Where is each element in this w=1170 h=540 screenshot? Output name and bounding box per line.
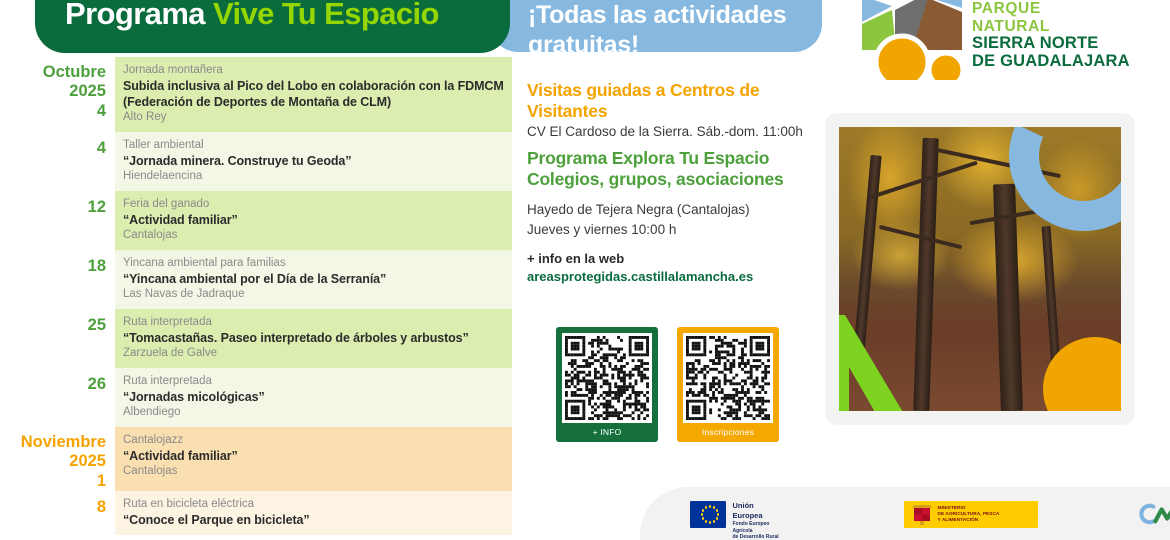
schedule-day: 4 <box>0 138 106 158</box>
schedule-row: Octubre20254Jornada montañeraSubida incl… <box>0 57 512 132</box>
activity-place: Zarzuela de Galve <box>123 346 504 361</box>
schedule-detail-cell: Yincana ambiental para familias“Yincana … <box>115 250 512 309</box>
footer-logos-panel: Unión Europea Fondo Europeo Agrícola de … <box>640 487 1170 540</box>
schedule-row: 18Yincana ambiental para familias“Yincan… <box>0 250 512 309</box>
park-logo: PARQUE NATURAL SIERRA NORTE DE GUADALAJA… <box>862 0 1162 86</box>
banner-program-title: Programa Vive Tu Espacio <box>35 0 510 53</box>
schedule-year: 2025 <box>0 82 106 101</box>
activity-kind: Yincana ambiental para familias <box>123 256 504 271</box>
eu-line-3: de Desarrollo Rural <box>732 534 785 540</box>
schedule-detail-cell: Feria del ganado“Actividad familiar”Cant… <box>115 191 512 250</box>
logo-line-2: NATURAL <box>972 18 1130 36</box>
schedule-month: Octubre <box>0 63 106 82</box>
website-link[interactable]: areasprotegidas.castillalamancha.es <box>527 268 817 286</box>
activity-title: Subida inclusiva al Pico del Lobo en col… <box>123 78 504 110</box>
activity-schedule: Octubre20254Jornada montañeraSubida incl… <box>0 57 512 535</box>
schedule-row: 4Taller ambiental“Jornada minera. Constr… <box>0 132 512 191</box>
qr-card-inscripciones[interactable]: Inscripciones <box>677 327 779 442</box>
schedule-detail-cell: Ruta interpretada“Tomacastañas. Paseo in… <box>115 309 512 368</box>
castilla-la-mancha-logo-icon <box>1136 501 1170 527</box>
eu-logo: Unión Europea Fondo Europeo Agrícola de … <box>690 501 786 540</box>
poster-page: ¡Todas las actividades gratuitas! Progra… <box>0 0 1170 540</box>
activity-title: “Jornada minera. Construye tu Geoda” <box>123 153 504 169</box>
schedule-row: 8Ruta en bicicleta eléctrica“Conoce el P… <box>0 491 512 535</box>
schedule-date-cell: 8 <box>0 491 115 535</box>
activity-place: Hiendelaencina <box>123 169 504 184</box>
eu-line-2: Fondo Europeo Agrícola <box>732 521 785 534</box>
schedule-date-cell: Noviembre20251 <box>0 427 115 491</box>
banner-program-title-text: Programa Vive Tu Espacio <box>65 0 495 32</box>
visits-subtext: CV El Cardoso de la Sierra. Sáb.-dom. 11… <box>527 122 817 142</box>
qr-label: Inscripciones <box>677 427 779 442</box>
schedule-detail-cell: Cantalojazz“Actividad familiar”Cantaloja… <box>115 427 512 491</box>
activity-place: Albendiego <box>123 405 504 420</box>
schedule-date-cell: 4 <box>0 132 115 191</box>
info-column: Visitas guiadas a Centros de Visitantes … <box>527 80 817 286</box>
autumn-beech-forest-photo <box>839 127 1121 411</box>
activity-kind: Ruta interpretada <box>123 374 504 389</box>
schedule-date-cell: Octubre20254 <box>0 57 115 132</box>
schedule-row: 25Ruta interpretada“Tomacastañas. Paseo … <box>0 309 512 368</box>
activity-kind: Ruta en bicicleta eléctrica <box>123 497 504 512</box>
explora-schedule: Jueves y viernes 10:00 h <box>527 220 817 240</box>
activity-place: Cantalojas <box>123 228 504 243</box>
visits-heading: Visitas guiadas a Centros de Visitantes <box>527 80 817 122</box>
activity-place: Alto Rey <box>123 110 504 125</box>
activity-title: “Jornadas micológicas” <box>123 389 504 405</box>
explora-heading-line2: Colegios, grupos, asociaciones <box>527 169 817 190</box>
schedule-date-cell: 25 <box>0 309 115 368</box>
activity-place: Las Navas de Jadraque <box>123 287 504 302</box>
schedule-date-cell: 18 <box>0 250 115 309</box>
program-word: Programa <box>65 0 205 31</box>
activity-title: “Tomacastañas. Paseo interpretado de árb… <box>123 330 504 346</box>
schedule-month: Noviembre <box>0 433 106 452</box>
banner-blue-line2: gratuitas! <box>528 31 639 59</box>
eu-line-1: Unión Europea <box>732 501 785 521</box>
schedule-day: 25 <box>0 315 106 335</box>
qr-code-icon[interactable] <box>683 333 773 423</box>
schedule-day: 8 <box>0 497 106 517</box>
activity-kind: Cantalojazz <box>123 433 504 448</box>
schedule-day: 12 <box>0 197 106 217</box>
park-logo-mark-icon <box>862 0 962 80</box>
schedule-row: 12Feria del ganado“Actividad familiar”Ca… <box>0 191 512 250</box>
schedule-date-cell: 12 <box>0 191 115 250</box>
schedule-day: 18 <box>0 256 106 276</box>
schedule-detail-cell: Jornada montañeraSubida inclusiva al Pic… <box>115 57 512 132</box>
schedule-day: 1 <box>0 471 106 491</box>
explora-heading-line1: Programa Explora Tu Espacio <box>527 148 817 169</box>
activity-kind: Feria del ganado <box>123 197 504 212</box>
activity-title: “Yincana ambiental por el Día de la Serr… <box>123 271 504 287</box>
activity-title: “Actividad familiar” <box>123 212 504 228</box>
decoration-green-zigzag <box>839 301 911 411</box>
schedule-day: 4 <box>0 101 106 121</box>
activity-kind: Taller ambiental <box>123 138 504 153</box>
photo-card <box>825 113 1135 425</box>
ministry-logo: MINISTERIO DE AGRICULTURA, PESCA Y ALIME… <box>904 501 1038 528</box>
activity-place: Cantalojas <box>123 464 504 479</box>
explora-location: Hayedo de Tejera Negra (Cantalojas) <box>527 200 817 220</box>
banner-free-activities: ¡Todas las actividades gratuitas! <box>490 0 822 52</box>
qr-code-icon[interactable] <box>562 333 652 423</box>
schedule-day: 26 <box>0 374 106 394</box>
logo-line-4: DE GUADALAJARA <box>972 53 1130 71</box>
schedule-detail-cell: Ruta en bicicleta eléctrica“Conoce el Pa… <box>115 491 512 535</box>
banner-blue-line1: ¡Todas las actividades <box>528 1 786 29</box>
schedule-date-cell: 26 <box>0 368 115 427</box>
eu-logo-text: Unión Europea Fondo Europeo Agrícola de … <box>732 501 785 540</box>
ministry-line-3: Y ALIMENTACIÓN <box>938 518 1000 524</box>
qr-label: + INFO <box>556 427 658 442</box>
activity-kind: Jornada montañera <box>123 63 504 78</box>
activity-title: “Conoce el Parque en bicicleta” <box>123 512 504 528</box>
logo-line-1: PARQUE <box>972 0 1130 18</box>
banner-free-activities-text: ¡Todas las actividades gratuitas! <box>528 0 818 60</box>
schedule-detail-cell: Taller ambiental“Jornada minera. Constru… <box>115 132 512 191</box>
qr-card-info[interactable]: + INFO <box>556 327 658 442</box>
park-logo-text: PARQUE NATURAL SIERRA NORTE DE GUADALAJA… <box>972 0 1130 70</box>
program-subtitle: Vive Tu Espacio <box>213 0 439 31</box>
schedule-row: 26Ruta interpretada“Jornadas micológicas… <box>0 368 512 427</box>
schedule-row: Noviembre20251Cantalojazz“Actividad fami… <box>0 427 512 491</box>
activity-kind: Ruta interpretada <box>123 315 504 330</box>
qr-code-group: + INFOInscripciones <box>556 327 779 442</box>
ministry-logo-text: MINISTERIO DE AGRICULTURA, PESCA Y ALIME… <box>938 506 1000 524</box>
activity-title: “Actividad familiar” <box>123 448 504 464</box>
ministry-line-2: DE AGRICULTURA, PESCA <box>938 512 1000 518</box>
spain-coat-of-arms-icon <box>910 504 934 526</box>
schedule-year: 2025 <box>0 452 106 471</box>
logo-line-3: SIERRA NORTE <box>972 35 1130 53</box>
eu-flag-icon <box>690 501 726 528</box>
schedule-detail-cell: Ruta interpretada“Jornadas micológicas”A… <box>115 368 512 427</box>
institutional-logos: Unión Europea Fondo Europeo Agrícola de … <box>690 501 1170 540</box>
more-info-label: + info en la web <box>527 250 817 268</box>
